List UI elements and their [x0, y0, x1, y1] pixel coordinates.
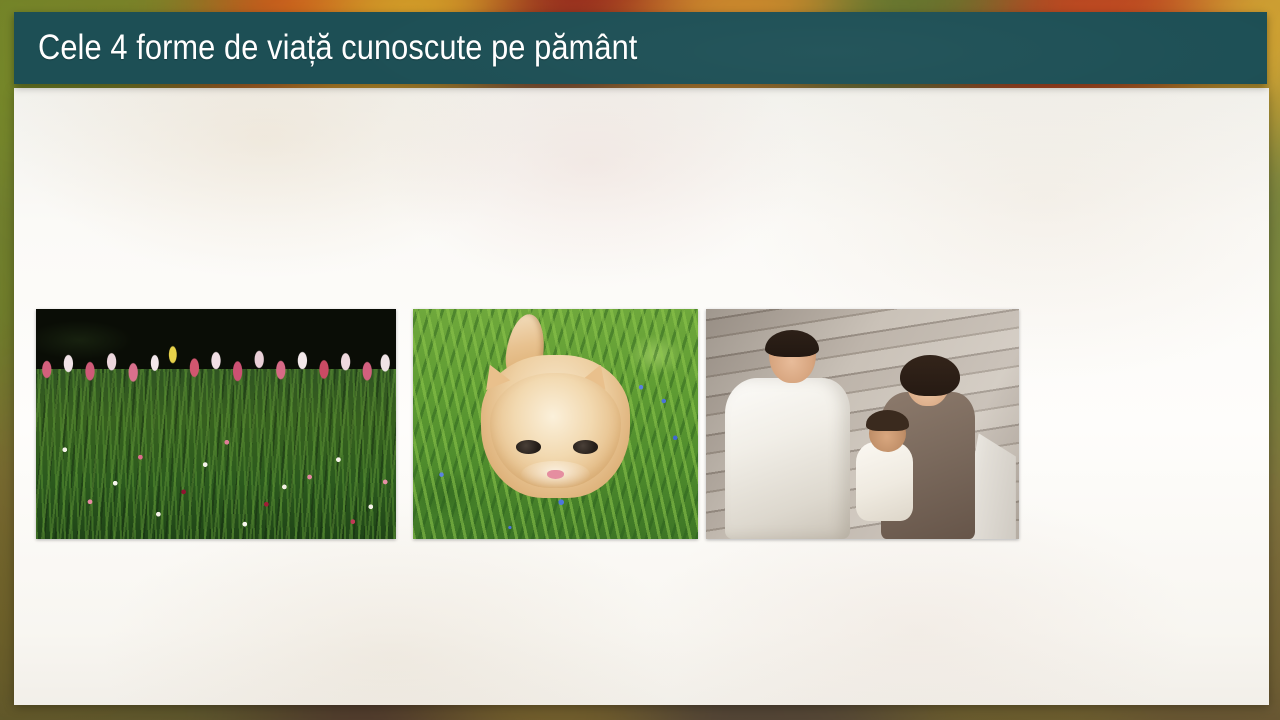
man-white-shirt	[725, 378, 850, 539]
kitten-artwork	[413, 309, 698, 539]
kitten-eye-left	[516, 440, 542, 454]
slide-title: Cele 4 forme de viață cunoscute pe pămân…	[38, 28, 637, 68]
slide-content-panel	[14, 88, 1269, 705]
kitten-eye-right	[573, 440, 599, 454]
family-artwork	[706, 309, 1019, 539]
woman-hair	[900, 355, 959, 396]
slide-stage: Cele 4 forme de viață cunoscute pe pămân…	[0, 0, 1280, 720]
tulip-blooms	[36, 337, 396, 397]
image-ginger-kitten[interactable]	[413, 309, 698, 539]
image-flower-field[interactable]	[36, 309, 396, 539]
flower-field-artwork	[36, 309, 396, 539]
title-bar: Cele 4 forme de viață cunoscute pe pămân…	[14, 12, 1267, 84]
daisy-blooms	[36, 415, 396, 539]
baby-body	[856, 442, 912, 520]
image-family-portrait[interactable]	[706, 309, 1019, 539]
